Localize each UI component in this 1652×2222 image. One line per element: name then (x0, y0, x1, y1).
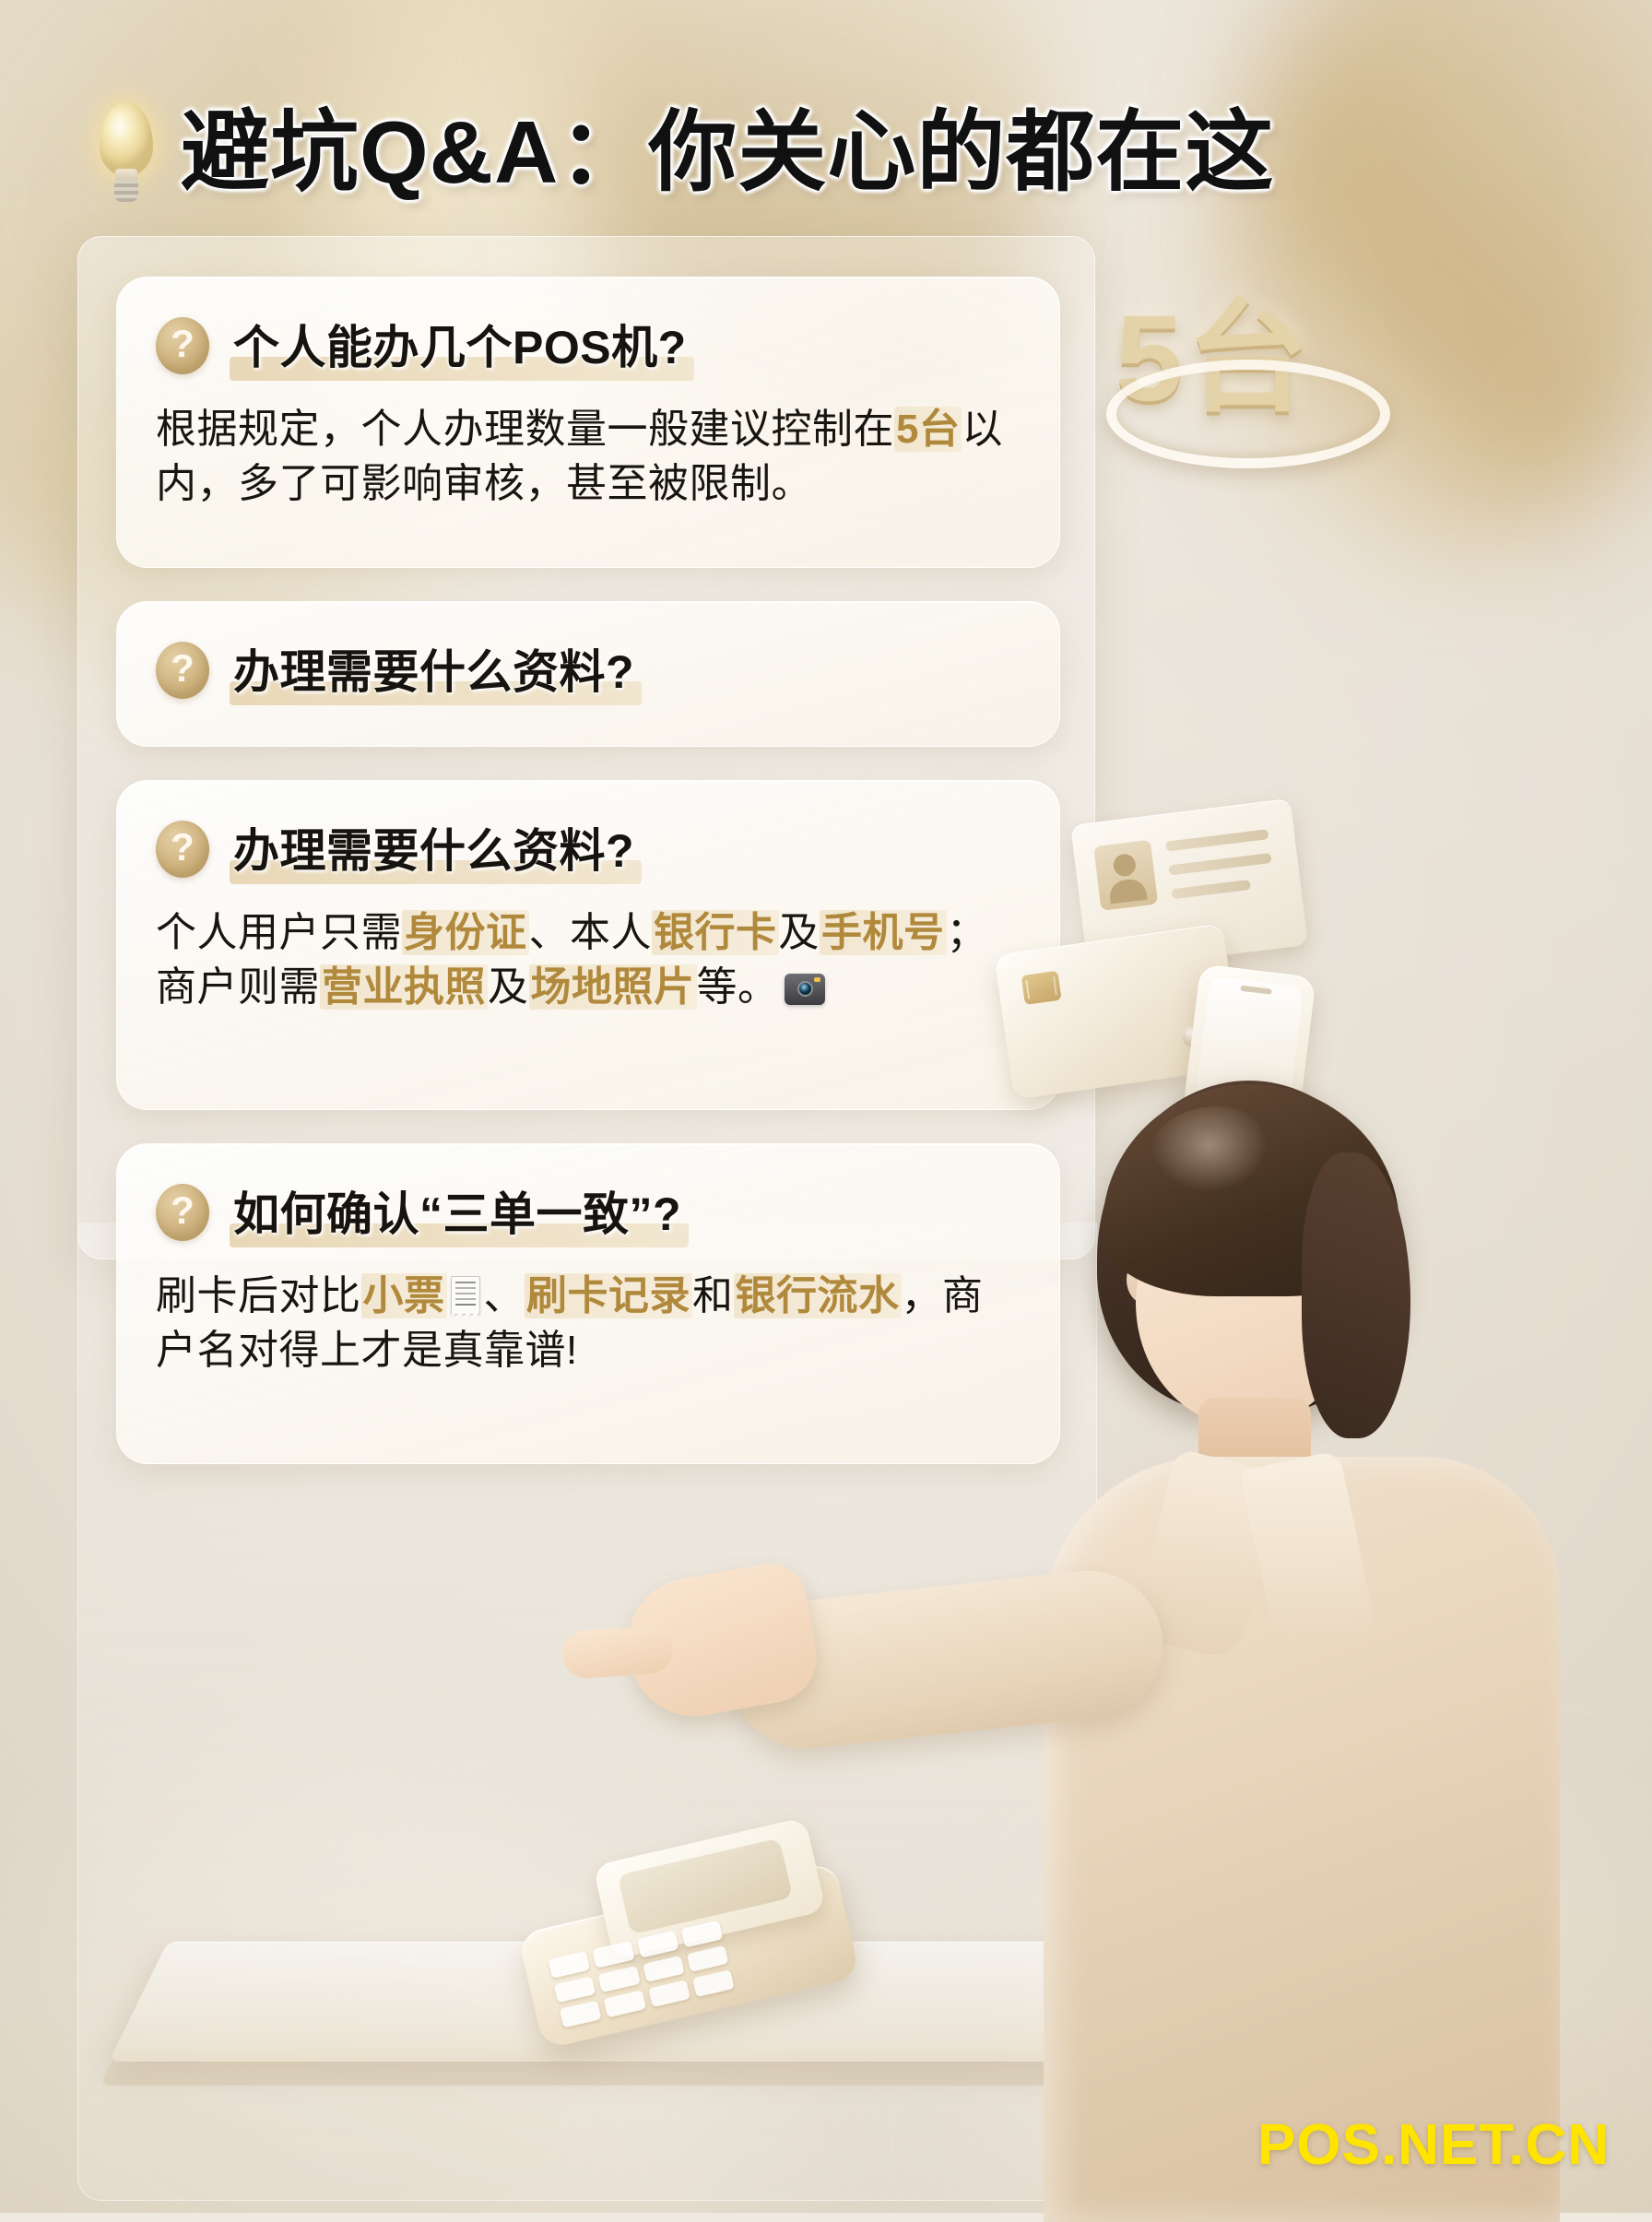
answer-highlight: 场地照片 (529, 964, 697, 1010)
answer-text: 、 (484, 1273, 525, 1318)
question-mark-icon: ? (156, 1184, 209, 1241)
page-title: 避坑Q&A：你关心的都在这 (181, 109, 1274, 197)
qa-question-row: ? 办理需要什么资料? (156, 633, 1019, 707)
answer-highlight: 银行卡 (652, 910, 779, 955)
qa-question: 如何确认“三单一致”? (228, 1176, 690, 1249)
answer-text: 和 (692, 1273, 734, 1318)
lightbulb-icon (92, 102, 160, 204)
answer-highlight: 身份证 (402, 910, 529, 955)
answer-text: 个人用户只需 (156, 910, 402, 955)
qa-question: 办理需要什么资料? (228, 633, 643, 707)
answer-text: ； (947, 910, 988, 955)
qa-answer: 根据规定，个人办理数量一般建议控制在5台以内，多了可影响审核，甚至被限制。 (156, 403, 1019, 511)
camera-icon (785, 974, 825, 1005)
site-watermark: POS.NET.CN (1257, 2112, 1610, 2178)
question-mark-icon: ? (156, 821, 209, 878)
page-title-row: 避坑Q&A：你关心的都在这 (92, 89, 1198, 218)
question-mark-icon: ? (156, 317, 209, 374)
answer-text: 般建议控制在 (648, 407, 894, 452)
answer-highlight: 营业执照 (320, 964, 488, 1010)
qa-question-row: ? 办理需要什么资料? (156, 812, 1019, 886)
question-mark-icon: ? (156, 642, 209, 699)
answer-text: 根据规定，个人办理数量一 (156, 407, 648, 452)
qa-question-row: ? 个人能办几个POS机? (156, 309, 1019, 383)
qa-answer: 刷卡后对比小票、刷卡记录和银行流水，商户名对得上才是真靠谱! (156, 1270, 1019, 1377)
qa-answer: 个人用户只需身份证、本人银行卡及手机号；商户则需营业执照及场地照片等。 (156, 906, 1019, 1014)
answer-text: 商户则需 (156, 964, 320, 1010)
qa-card[interactable]: ? 个人能办几个POS机? 根据规定，个人办理数量一般建议控制在5台以内，多了可… (116, 277, 1060, 568)
answer-highlight: 银行流水 (734, 1273, 902, 1318)
answer-highlight: 刷卡记录 (525, 1273, 692, 1318)
receipt-icon (451, 1276, 480, 1315)
qa-question: 个人能办几个POS机? (228, 309, 696, 383)
answer-text: 刷卡后对比 (156, 1273, 361, 1318)
answer-highlight: 小票 (361, 1273, 447, 1318)
answer-text: 、本人 (529, 910, 653, 955)
answer-text: 及 (488, 964, 529, 1010)
answer-text: 及 (779, 910, 820, 955)
qa-card[interactable]: ? 办理需要什么资料? (116, 601, 1060, 747)
answer-text: 等。 (697, 964, 779, 1010)
answer-highlight: 手机号 (820, 910, 947, 955)
answer-text: 甚至被限制。 (566, 461, 812, 506)
person-illustration (905, 1042, 1652, 2213)
answer-highlight: 5台 (894, 407, 962, 452)
qa-question-row: ? 如何确认“三单一致”? (156, 1176, 1019, 1249)
qa-question: 办理需要什么资料? (228, 812, 643, 886)
